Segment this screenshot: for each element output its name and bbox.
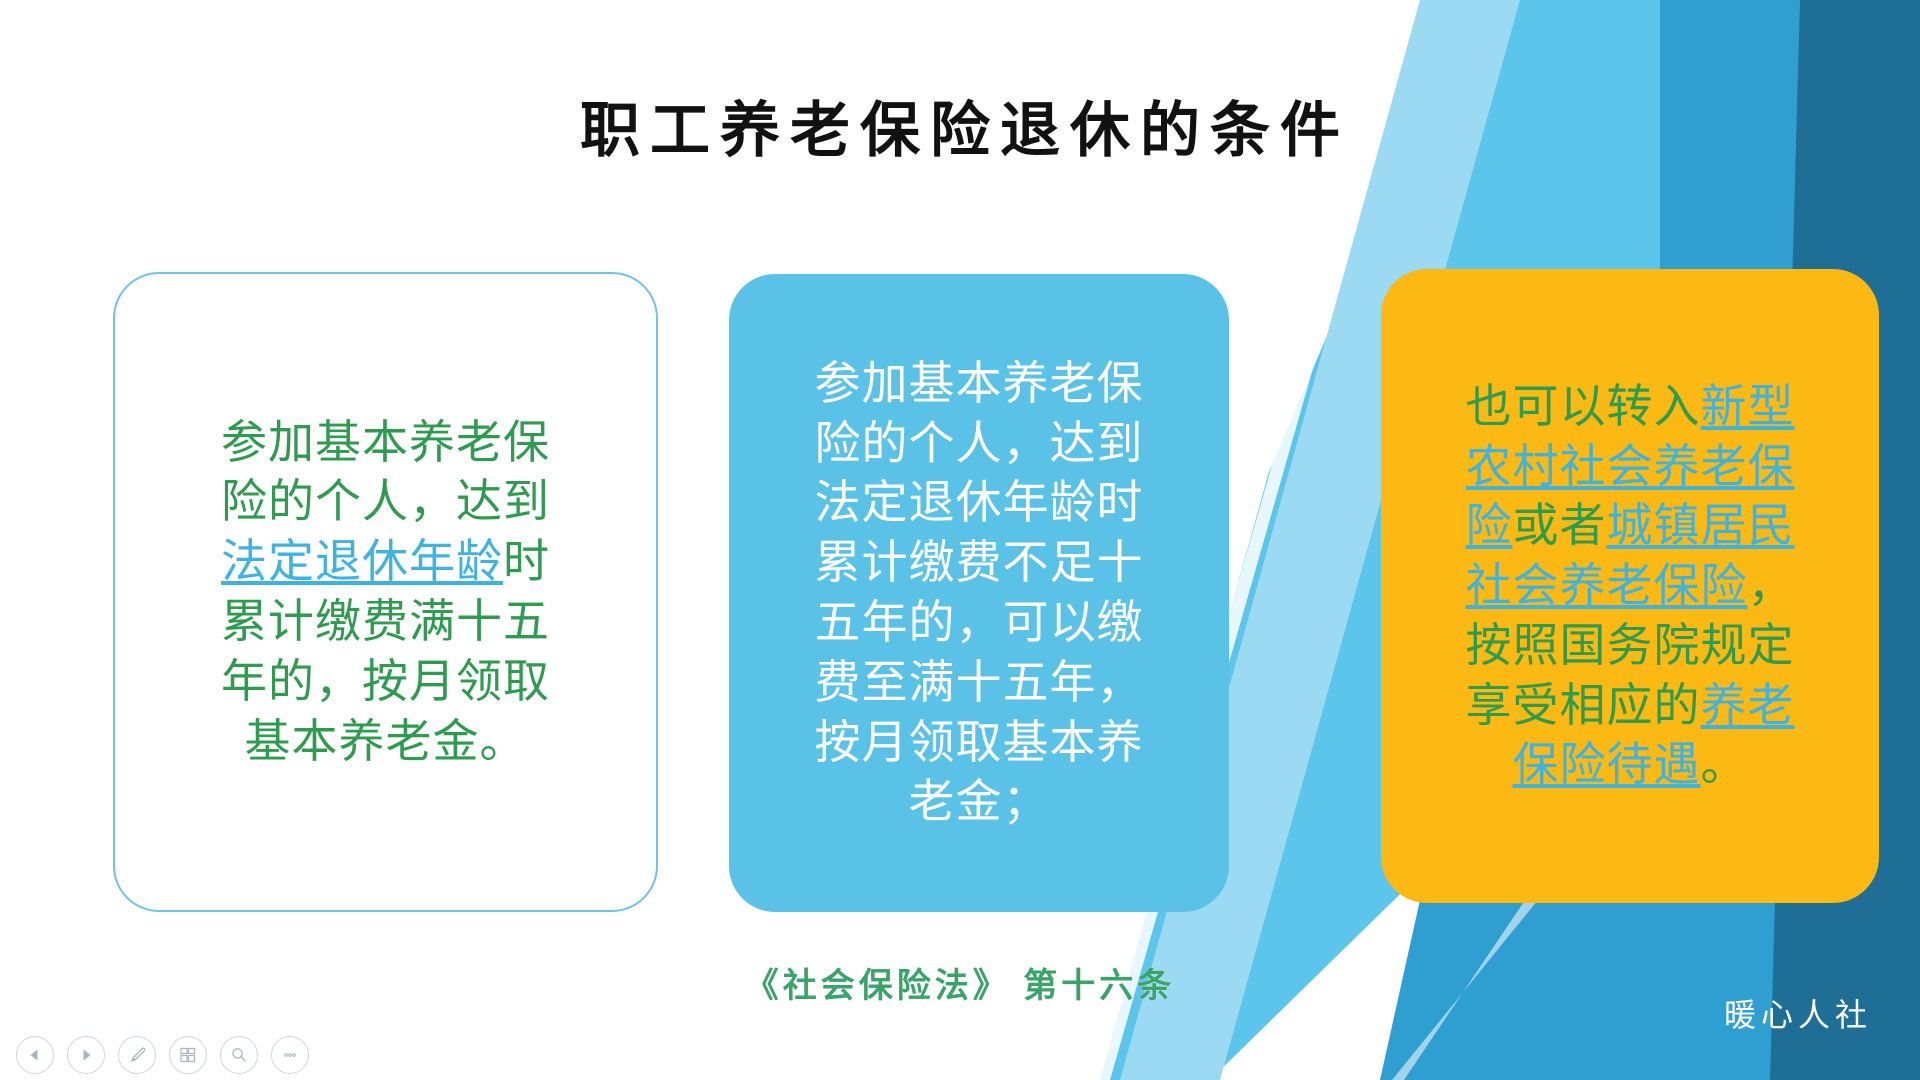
chevron-left-icon <box>26 1046 44 1064</box>
text-line: 保险待遇。 <box>1397 735 1863 795</box>
text-line: 按月领取基本养 <box>745 713 1213 773</box>
next-slide-button[interactable] <box>67 1036 105 1074</box>
text-run: 险的个人，达到 <box>815 417 1144 469</box>
hyperlink[interactable]: 险 <box>1466 499 1513 551</box>
watermark: 暖心人社 <box>1724 990 1872 1036</box>
text-line: 累计缴费不足十 <box>745 533 1213 593</box>
text-run: 累计缴费不足十 <box>815 536 1144 588</box>
text-run: 时 <box>503 535 550 587</box>
text-line: 按照国务院规定 <box>1397 616 1863 676</box>
card-participation-text: 参加基本养老保参加基本养老保险的个人，达到险的个人，达到法定退休年龄时法定退休年… <box>115 413 656 772</box>
text-line: 险的个人，达到 <box>131 472 640 532</box>
card-transfer: 也可以转入新型也可以转入新型农村社会养老保农村社会养老保险或者城镇居民险或者城镇… <box>1381 269 1879 903</box>
card-underfifteen-text: 参加基本养老保参加基本养老保险的个人，达到险的个人，达到法定退休年龄时法定退休年… <box>729 354 1229 832</box>
card-participation: 参加基本养老保参加基本养老保险的个人，达到险的个人，达到法定退休年龄时法定退休年… <box>113 272 658 912</box>
text-run: ， <box>1748 559 1795 611</box>
presentation-slide: 职工养老保险退休的条件 参加基本养老保参加基本养老保险的个人，达到险的个人，达到… <box>0 0 1920 1080</box>
text-line: 也可以转入新型 <box>1397 377 1863 437</box>
text-line: 农村社会养老保 <box>1397 437 1863 497</box>
text-run: 费至满十五年， <box>815 656 1144 708</box>
player-toolbar <box>16 1036 309 1074</box>
pen-tool-button[interactable] <box>118 1036 156 1074</box>
pen-icon <box>127 1045 147 1065</box>
text-run: 按照国务院规定 <box>1466 619 1795 671</box>
text-line: 法定退休年龄时 <box>131 532 640 592</box>
text-run: 累计缴费满十五 <box>221 595 550 647</box>
hyperlink[interactable]: 社会养老保险 <box>1466 559 1748 611</box>
text-line: 年的，按月领取 <box>131 652 640 712</box>
text-line: 老金； <box>745 772 1213 832</box>
text-run: 按月领取基本养 <box>815 716 1144 768</box>
text-run: 参加基本养老保 <box>221 416 550 468</box>
text-line: 累计缴费满十五 <box>131 592 640 652</box>
text-line: 参加基本养老保 <box>131 413 640 473</box>
hyperlink[interactable]: 城镇居民 <box>1607 499 1795 551</box>
text-line: 享受相应的养老 <box>1397 676 1863 736</box>
text-run: 老金； <box>909 775 1050 827</box>
text-run: 。 <box>1701 738 1748 790</box>
hyperlink[interactable]: 法定退休年龄 <box>221 535 503 587</box>
card-transfer-text: 也可以转入新型也可以转入新型农村社会养老保农村社会养老保险或者城镇居民险或者城镇… <box>1381 377 1879 796</box>
text-line: 社会养老保险， <box>1397 556 1863 616</box>
slide-title: 职工养老保险退休的条件 <box>0 82 1920 169</box>
hyperlink[interactable]: 农村社会养老保 <box>1466 440 1795 492</box>
hyperlink[interactable]: 保险待遇 <box>1513 738 1701 790</box>
text-run: 基本养老金。 <box>245 715 527 767</box>
text-run: 享受相应的 <box>1466 679 1701 731</box>
previous-slide-button[interactable] <box>16 1036 54 1074</box>
more-options-button[interactable] <box>271 1036 309 1074</box>
card-underfifteen: 参加基本养老保参加基本养老保险的个人，达到险的个人，达到法定退休年龄时法定退休年… <box>729 274 1229 912</box>
text-line: 险的个人，达到 <box>745 414 1213 474</box>
text-line: 费至满十五年， <box>745 653 1213 713</box>
zoom-button[interactable] <box>220 1036 258 1074</box>
text-run: 险的个人，达到 <box>221 475 550 527</box>
text-run: 法定退休年龄时 <box>815 476 1144 528</box>
text-line: 法定退休年龄时 <box>745 473 1213 533</box>
text-line: 基本养老金。 <box>131 712 640 772</box>
law-citation: 《社会保险法》 第十六条 <box>0 958 1920 1007</box>
slide-overview-button[interactable] <box>169 1036 207 1074</box>
slides-icon <box>178 1045 198 1065</box>
text-line: 参加基本养老保 <box>745 354 1213 414</box>
hyperlink[interactable]: 养老 <box>1701 679 1795 731</box>
text-line: 险或者城镇居民 <box>1397 496 1863 556</box>
text-run: 五年的，可以缴 <box>815 596 1144 648</box>
hyperlink[interactable]: 新型 <box>1701 380 1795 432</box>
text-line: 五年的，可以缴 <box>745 593 1213 653</box>
text-run: 参加基本养老保 <box>815 357 1144 409</box>
text-run: 也可以转入 <box>1466 380 1701 432</box>
text-run: 或者 <box>1513 499 1607 551</box>
magnifier-icon <box>229 1045 249 1065</box>
text-run: 年的，按月领取 <box>221 655 550 707</box>
ellipsis-icon <box>280 1045 300 1065</box>
chevron-right-icon <box>77 1046 95 1064</box>
